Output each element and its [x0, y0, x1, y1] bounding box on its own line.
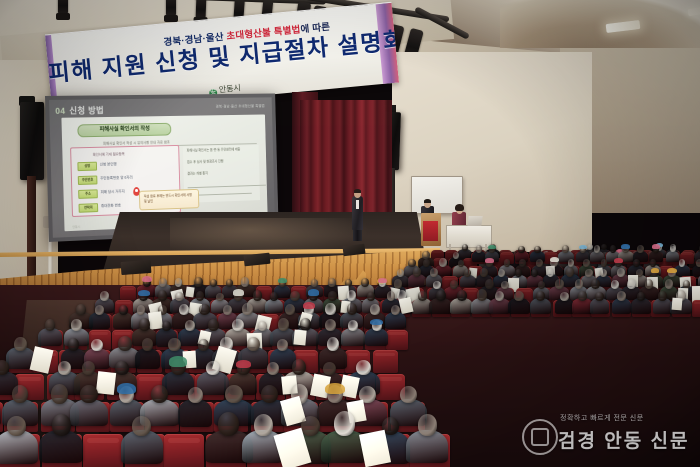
- audience-member-head: [476, 245, 482, 252]
- audience-member-hat: [142, 276, 152, 282]
- audience-member-head: [480, 268, 487, 277]
- audience-member-hat: [308, 289, 319, 295]
- audience-member-head: [242, 303, 253, 315]
- audience-member-head: [356, 360, 371, 376]
- audience-member-head: [348, 320, 359, 331]
- pa-speaker-left: [20, 102, 44, 180]
- audience-member-head: [241, 277, 249, 286]
- audience-member-head: [501, 281, 509, 289]
- audience-member-head: [151, 385, 168, 404]
- audience-member-head: [82, 361, 95, 375]
- audience-member-head: [477, 289, 487, 301]
- audience-member-head: [430, 268, 437, 277]
- audience-member-head: [413, 267, 421, 276]
- audience-member-hat: [236, 360, 252, 368]
- audience-member-head: [367, 292, 375, 301]
- audience-member-head: [232, 319, 244, 331]
- audience-member-head: [601, 259, 608, 266]
- audience-member-head: [311, 279, 318, 287]
- audience-member-head: [347, 303, 357, 314]
- audience-member-head: [292, 359, 306, 375]
- audience-member-head: [422, 251, 429, 259]
- ceiling-curve: [500, 0, 700, 48]
- audience-member-head: [142, 338, 153, 351]
- audience-member-head: [575, 279, 583, 288]
- slide-row-text: 휴대전화 번호: [101, 202, 121, 210]
- auditorium-seat: [386, 330, 408, 350]
- audience-member-body: [365, 328, 388, 346]
- audience-member-head: [504, 259, 511, 266]
- audience-member-head: [247, 337, 260, 351]
- audience-member-head: [568, 259, 574, 266]
- audience-member-head: [45, 319, 56, 331]
- audience-member-head: [560, 292, 568, 301]
- audience-member-head: [80, 385, 97, 404]
- audience-member-hat: [621, 244, 630, 248]
- slide-row-tag: 주민번호: [78, 175, 98, 185]
- audience-member-head: [277, 339, 289, 351]
- audience-member-head: [225, 385, 243, 403]
- presenter-hair: [354, 189, 361, 193]
- audience-member-head: [562, 245, 569, 253]
- audience-member-head: [462, 244, 468, 251]
- audience-member-head: [68, 338, 79, 351]
- audience-member-head: [583, 259, 590, 266]
- audience-member-head: [253, 290, 262, 300]
- audience-member-hat: [233, 289, 244, 295]
- slide-pill-heading: 피해사실 확인서의 작성: [77, 123, 171, 138]
- audience-member-hat: [485, 258, 493, 263]
- audience-member-head: [519, 259, 525, 266]
- staff-hair: [455, 204, 464, 211]
- audience-member-head: [645, 279, 654, 289]
- audience-member-head: [585, 269, 592, 276]
- audience-member-head: [158, 290, 168, 300]
- audience-member-head: [617, 268, 625, 277]
- audience-member-hat: [169, 356, 187, 366]
- audience-member-head: [637, 292, 646, 301]
- auditorium-seat: [692, 300, 700, 317]
- audience-member-head: [327, 337, 339, 351]
- audience-member-head: [139, 318, 150, 331]
- audience-member-head: [534, 246, 541, 253]
- auditorium-photo: 경북·경남·울산 초대형산불 특별법에 따른 피해 지원 신청 및 지급절차 설…: [0, 0, 700, 467]
- audience-member-head: [162, 321, 172, 331]
- slide-section-title: 신청 방법: [69, 105, 104, 115]
- audience-member-head: [536, 259, 543, 267]
- audience-member-hat: [579, 245, 587, 249]
- audience-member-head: [175, 292, 184, 301]
- audience-member-head: [458, 260, 465, 267]
- presenter-shirt: [356, 200, 359, 209]
- audience-member-head: [665, 279, 673, 289]
- slide-row: 성명 신청 본인명: [77, 160, 177, 171]
- slide-row-tag: 성명: [77, 162, 97, 171]
- audience-member-head: [637, 245, 644, 252]
- audience-member-head: [611, 280, 619, 288]
- slide-callout: 작성 완료 후에는 반드시 확인서에 서명 및 날인: [139, 189, 199, 211]
- audience-member-hat: [651, 268, 660, 273]
- auditorium-seat: [83, 434, 123, 467]
- banner-organizer-label: 안동시: [218, 83, 241, 94]
- audience-member-head: [617, 291, 626, 300]
- audience-member-head: [254, 414, 273, 436]
- audience-member-head: [679, 259, 686, 267]
- stage-monitor-speaker: [121, 260, 152, 275]
- audience-member-head: [100, 291, 109, 300]
- audience-member-body: [265, 299, 283, 314]
- slide-row-text: 피해 당시 거주지: [101, 188, 125, 196]
- audience-member-head: [185, 320, 195, 331]
- audience-member-head: [601, 244, 607, 250]
- slide-row-tag: 연락처: [79, 203, 99, 213]
- audience-member-head: [650, 259, 657, 267]
- audience-member-head: [485, 279, 494, 289]
- audience-member-head: [91, 339, 103, 351]
- audience-member-head: [52, 414, 71, 436]
- audience-member-head: [439, 258, 446, 266]
- audience-member-hat: [614, 258, 623, 263]
- slide-note-3: 결과는 개별 통지: [187, 169, 269, 177]
- audience-member-hat: [488, 245, 496, 249]
- audience-member-head: [400, 386, 417, 404]
- podium-banner: [423, 221, 438, 241]
- audience-member-head: [433, 281, 440, 289]
- audience-member-head: [290, 291, 300, 301]
- stage-spotlight-icon: [58, 0, 68, 16]
- auditorium-seat: [120, 286, 136, 300]
- audience-member-head: [267, 362, 280, 375]
- audience-member-head: [514, 291, 524, 301]
- audience-member-hat: [303, 302, 315, 309]
- audience-member-head: [51, 384, 68, 404]
- stage-spotlight-icon: [166, 0, 176, 18]
- slide-note-1: 피해사실 확인서는 읍·면·동 주민센터에 제출: [187, 147, 269, 155]
- audience-member-head: [194, 277, 202, 287]
- handout-paper: [671, 298, 682, 311]
- stage-spotlight-icon: [196, 0, 207, 20]
- audience-member-head: [518, 246, 524, 253]
- audience-member-hat: [550, 257, 560, 262]
- handout-paper: [96, 371, 116, 395]
- audience-member-head: [457, 290, 467, 301]
- audience-member-head: [536, 291, 546, 301]
- audience-member-head: [179, 304, 189, 315]
- audience-member-head: [547, 268, 554, 277]
- slide-row-text: 신청 본인명: [100, 161, 117, 168]
- audience-member-head: [278, 318, 290, 331]
- audience-member-head: [198, 339, 209, 351]
- audience-member-head: [328, 278, 335, 286]
- audience-member-head: [347, 290, 356, 301]
- audience-member-head: [418, 291, 427, 300]
- audience-member-head: [633, 259, 640, 266]
- audience-member-head: [670, 246, 676, 252]
- slide-note-2: 접수 후 심사 및 현장조사 진행: [187, 158, 269, 166]
- slide-row-text: 주민등록번호 앞 6자리: [100, 174, 133, 182]
- handout-paper: [359, 430, 391, 467]
- slide-row: 주민번호 주민등록번호 앞 6자리: [78, 173, 177, 184]
- audience-member-hat: [378, 278, 387, 283]
- audience-member-head: [175, 278, 183, 286]
- audience-member-head: [566, 267, 574, 277]
- audience-member-head: [627, 279, 636, 289]
- audience-member-head: [58, 361, 72, 375]
- audience-member-body: [178, 399, 212, 427]
- slide-header: 04신청 방법: [55, 104, 104, 117]
- audience-member-head: [397, 269, 405, 277]
- audience-member-head: [423, 259, 430, 267]
- audience-member-body: [555, 298, 574, 314]
- slide-rule: [188, 185, 266, 188]
- audience-member-head: [610, 245, 616, 252]
- handout-paper: [293, 329, 307, 345]
- audience-member-head: [196, 291, 205, 301]
- audience-member-head: [325, 303, 335, 315]
- audience-member-head: [206, 361, 220, 376]
- audience-member-head: [450, 280, 458, 289]
- audience-member-head: [595, 292, 604, 301]
- slide-section-number: 04: [55, 106, 65, 116]
- audience-member-head: [208, 319, 219, 331]
- audience-member-head: [334, 411, 355, 436]
- audience-member-head: [600, 269, 607, 277]
- audience-member-head: [325, 319, 336, 331]
- audience-member-head: [71, 319, 82, 331]
- audience-member-head: [578, 291, 587, 300]
- audience-member-hat: [278, 278, 287, 283]
- pa-speaker-left-column: [27, 176, 36, 288]
- slide-header-right: 경북·경남·울산 초대형산불 특별법: [216, 104, 265, 109]
- audience-member-head: [7, 416, 26, 436]
- audience-member-head: [495, 291, 504, 301]
- audience-member-body: [666, 251, 679, 262]
- audience-member-head: [538, 281, 545, 289]
- audience-member-head: [270, 292, 278, 300]
- audience-member-head: [436, 290, 446, 301]
- audience-member-head: [531, 269, 538, 277]
- moderator-hair: [424, 199, 431, 203]
- audience-member-head: [188, 387, 203, 403]
- audience-member-head: [14, 337, 27, 351]
- audience-member-head: [210, 279, 217, 286]
- audience-member-hat: [117, 383, 136, 394]
- audience-member-hat: [652, 244, 660, 249]
- audience-member-head: [118, 336, 132, 352]
- audience-member-hat: [138, 290, 150, 296]
- audience-member-head: [216, 293, 224, 301]
- stage-curtain-folds: [300, 100, 392, 230]
- audience-member-head: [391, 305, 400, 315]
- audience-member-hat: [370, 319, 383, 326]
- audience-member-hat: [325, 383, 345, 394]
- audience-member-head: [498, 269, 505, 277]
- audience-member-head: [370, 304, 380, 315]
- audience-member-head: [258, 321, 268, 331]
- audience-member-head: [658, 291, 667, 301]
- audience-member-head: [323, 362, 336, 375]
- audience-member-head: [594, 245, 600, 252]
- audience-member-hat: [667, 268, 677, 273]
- audience-member-head: [95, 305, 104, 315]
- audience-member-head: [285, 304, 295, 315]
- audience-member-head: [387, 291, 395, 300]
- audience-member-head: [137, 305, 146, 315]
- audience-member-body: [590, 298, 610, 314]
- handout-paper: [185, 286, 194, 297]
- audience-member-head: [591, 279, 600, 289]
- audience-member-head: [119, 305, 128, 315]
- auditorium-seat: [164, 434, 204, 467]
- slide-box-title: 확인서에 기재 필요항목: [93, 151, 125, 157]
- slide-footer: 안동시: [72, 225, 80, 229]
- audience-member-head: [301, 416, 320, 436]
- audience-member-head: [453, 252, 459, 259]
- slide-row-tag: 주소: [78, 189, 98, 199]
- audience-member-head: [115, 361, 129, 375]
- audience-member-head: [361, 278, 368, 287]
- audience-member-head: [223, 305, 232, 315]
- audience-member-head: [418, 414, 437, 435]
- audience-member-head: [132, 416, 151, 436]
- audience-member-head: [555, 279, 564, 289]
- auditorium-seat: [373, 350, 398, 373]
- audience-member-head: [199, 304, 210, 315]
- laptop: [467, 216, 482, 226]
- audience-member-head: [159, 278, 166, 287]
- audience-member-head: [408, 259, 415, 267]
- audience-member-head: [226, 279, 233, 286]
- audience-member-head: [328, 291, 337, 300]
- audience-member-head: [76, 304, 86, 315]
- audience-member-head: [515, 269, 522, 276]
- audience-member-head: [464, 269, 471, 277]
- audience-member-head: [696, 259, 700, 267]
- audience-member-head: [218, 412, 239, 436]
- audience-member-body: [631, 298, 650, 314]
- audience-member-head: [168, 338, 180, 352]
